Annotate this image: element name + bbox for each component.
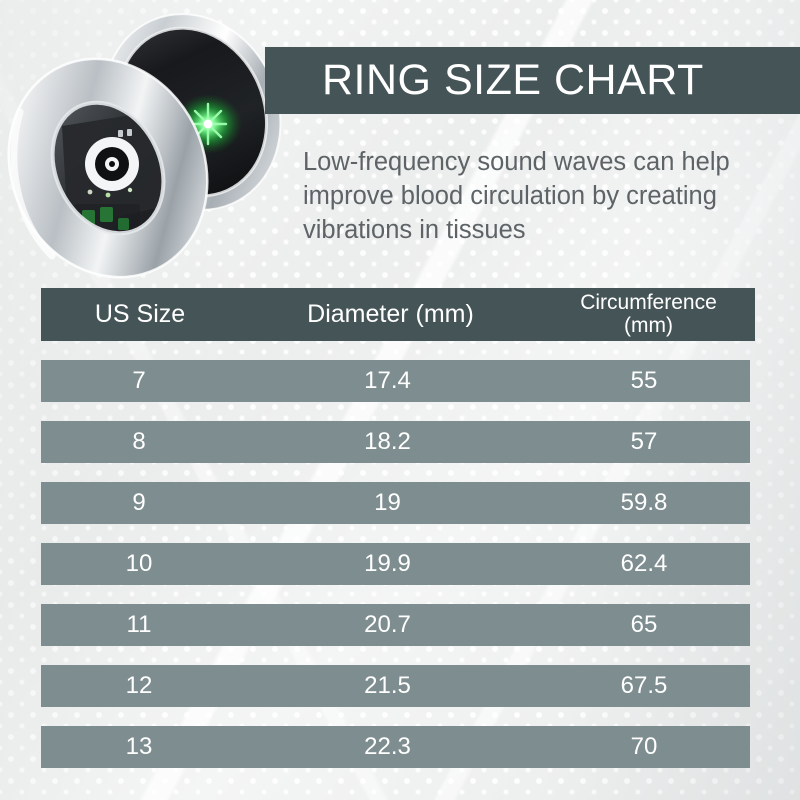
cell-circumference: 67.5 <box>538 665 750 707</box>
ring-size-table: US Size Diameter (mm) Circumference (mm)… <box>41 288 755 768</box>
table-header-row: US Size Diameter (mm) Circumference (mm) <box>41 288 755 341</box>
cell-us-size: 11 <box>41 604 237 646</box>
cell-us-size: 7 <box>41 360 237 402</box>
table-row: 13 22.3 70 <box>41 726 750 768</box>
title-banner: RING SIZE CHART <box>265 47 800 114</box>
cell-us-size: 8 <box>41 421 237 463</box>
cell-circumference: 55 <box>538 360 750 402</box>
table-row: 9 19 59.8 <box>41 482 750 524</box>
cell-circumference: 70 <box>538 726 750 768</box>
cell-circumference: 57 <box>538 421 750 463</box>
column-header-circumference-line1: Circumference <box>580 292 717 315</box>
cell-us-size: 9 <box>41 482 237 524</box>
column-header-circumference: Circumference (mm) <box>542 288 755 341</box>
column-header-diameter: Diameter (mm) <box>239 288 542 341</box>
cell-us-size: 10 <box>41 543 237 585</box>
cell-diameter: 18.2 <box>237 421 538 463</box>
ring-size-chart-page: RING SIZE CHART Low-frequency sound wave… <box>0 0 800 800</box>
subtitle-text: Low-frequency sound waves can help impro… <box>303 145 795 247</box>
page-title: RING SIZE CHART <box>322 59 704 102</box>
cell-circumference: 65 <box>538 604 750 646</box>
table-row: 7 17.4 55 <box>41 360 750 402</box>
column-header-circumference-line2: (mm) <box>624 315 673 338</box>
cell-diameter: 20.7 <box>237 604 538 646</box>
cell-diameter: 21.5 <box>237 665 538 707</box>
table-row: 10 19.9 62.4 <box>41 543 750 585</box>
table-row: 8 18.2 57 <box>41 421 750 463</box>
table-row: 12 21.5 67.5 <box>41 665 750 707</box>
cell-us-size: 12 <box>41 665 237 707</box>
cell-diameter: 19 <box>237 482 538 524</box>
cell-us-size: 13 <box>41 726 237 768</box>
cell-circumference: 59.8 <box>538 482 750 524</box>
cell-diameter: 17.4 <box>237 360 538 402</box>
cell-diameter: 19.9 <box>237 543 538 585</box>
column-header-us-size: US Size <box>41 288 239 341</box>
cell-circumference: 62.4 <box>538 543 750 585</box>
table-row: 11 20.7 65 <box>41 604 750 646</box>
cell-diameter: 22.3 <box>237 726 538 768</box>
